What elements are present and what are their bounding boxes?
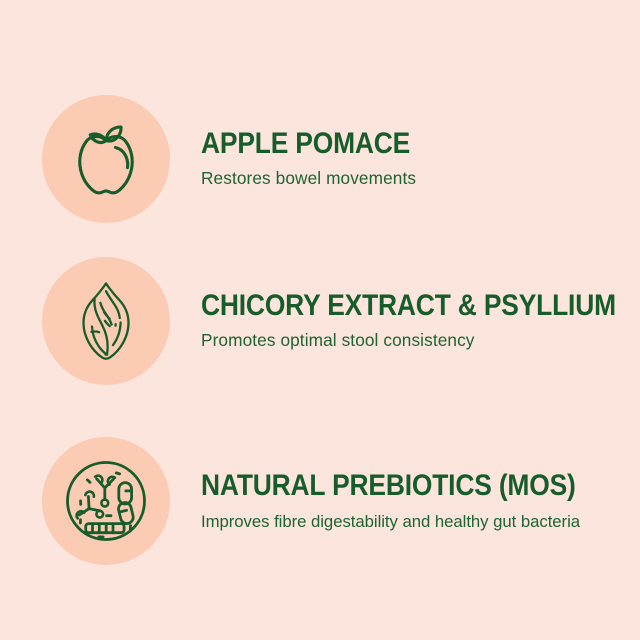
- benefits-list: APPLE POMACE Restores bowel movements: [0, 0, 640, 640]
- icon-badge-apple: [42, 95, 170, 223]
- icon-badge-prebiotics: [42, 437, 170, 565]
- gut-bacteria-icon: [64, 459, 148, 543]
- benefit-title: APPLE POMACE: [201, 128, 587, 160]
- icon-badge-chicory: [42, 257, 170, 385]
- benefit-item-natural-prebiotics: NATURAL PREBIOTICS (MOS) Improves fibre …: [0, 437, 640, 565]
- benefit-title: CHICORY EXTRACT & PSYLLIUM: [201, 290, 616, 322]
- apple-icon: [69, 119, 143, 199]
- benefit-subtitle: Promotes optimal stool consistency: [201, 330, 640, 352]
- benefit-subtitle: Restores bowel movements: [201, 168, 633, 190]
- benefit-text-natural-prebiotics: NATURAL PREBIOTICS (MOS) Improves fibre …: [201, 470, 640, 532]
- benefit-title: NATURAL PREBIOTICS (MOS): [201, 470, 587, 502]
- benefit-text-chicory-psyllium: CHICORY EXTRACT & PSYLLIUM Promotes opti…: [201, 290, 640, 352]
- benefit-subtitle: Improves fibre digestability and healthy…: [201, 511, 633, 532]
- chicory-leaf-icon: [76, 278, 136, 364]
- benefit-item-chicory-psyllium: CHICORY EXTRACT & PSYLLIUM Promotes opti…: [0, 257, 640, 385]
- benefit-text-apple-pomace: APPLE POMACE Restores bowel movements: [201, 128, 640, 190]
- benefit-item-apple-pomace: APPLE POMACE Restores bowel movements: [0, 95, 640, 223]
